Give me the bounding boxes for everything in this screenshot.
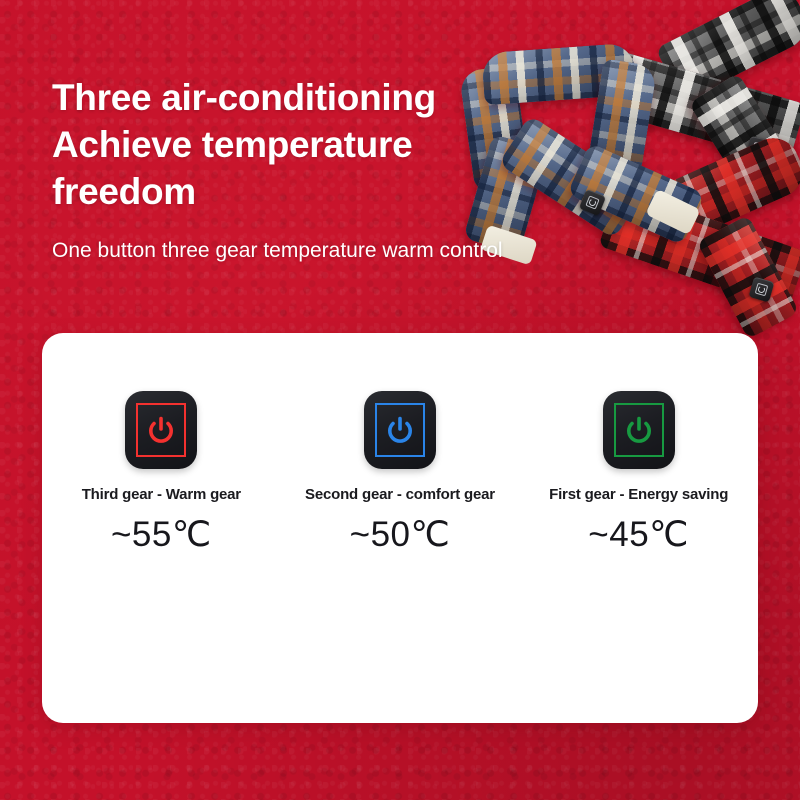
power-icon [385, 414, 415, 446]
gear-temperature-third: ~55℃ [111, 515, 212, 555]
gear-frame-third [136, 403, 186, 457]
gear-button-third[interactable] [125, 391, 197, 469]
gear-frame-second [375, 403, 425, 457]
gear-temperature-second: ~50℃ [350, 515, 451, 555]
gear-label-third: Third gear - Warm gear [82, 486, 241, 503]
gear-option-third[interactable]: Third gear - Warm gear ~55℃ [52, 391, 270, 555]
gear-label-second: Second gear - comfort gear [305, 486, 495, 503]
title-line-3: freedom [52, 168, 522, 215]
gear-label-first: First gear - Energy saving [549, 486, 728, 503]
power-icon [624, 414, 654, 446]
title-line-1: Three air-conditioning [52, 74, 522, 121]
gear-row: Third gear - Warm gear ~55℃ Second gear … [42, 391, 758, 555]
gear-button-first[interactable] [603, 391, 675, 469]
page-subtitle: One button three gear temperature warm c… [52, 237, 503, 265]
gear-frame-first [614, 403, 664, 457]
title-line-2: Achieve temperature [52, 121, 522, 168]
gear-info-card: Third gear - Warm gear ~55℃ Second gear … [42, 333, 758, 723]
page-title: Three air-conditioning Achieve temperatu… [52, 74, 522, 215]
gear-button-second[interactable] [364, 391, 436, 469]
gear-temperature-first: ~45℃ [588, 515, 689, 555]
power-icon [755, 283, 769, 297]
gear-option-first[interactable]: First gear - Energy saving ~45℃ [530, 391, 748, 555]
power-icon [146, 414, 176, 446]
power-icon [585, 195, 599, 209]
gear-option-second[interactable]: Second gear - comfort gear ~50℃ [291, 391, 509, 555]
